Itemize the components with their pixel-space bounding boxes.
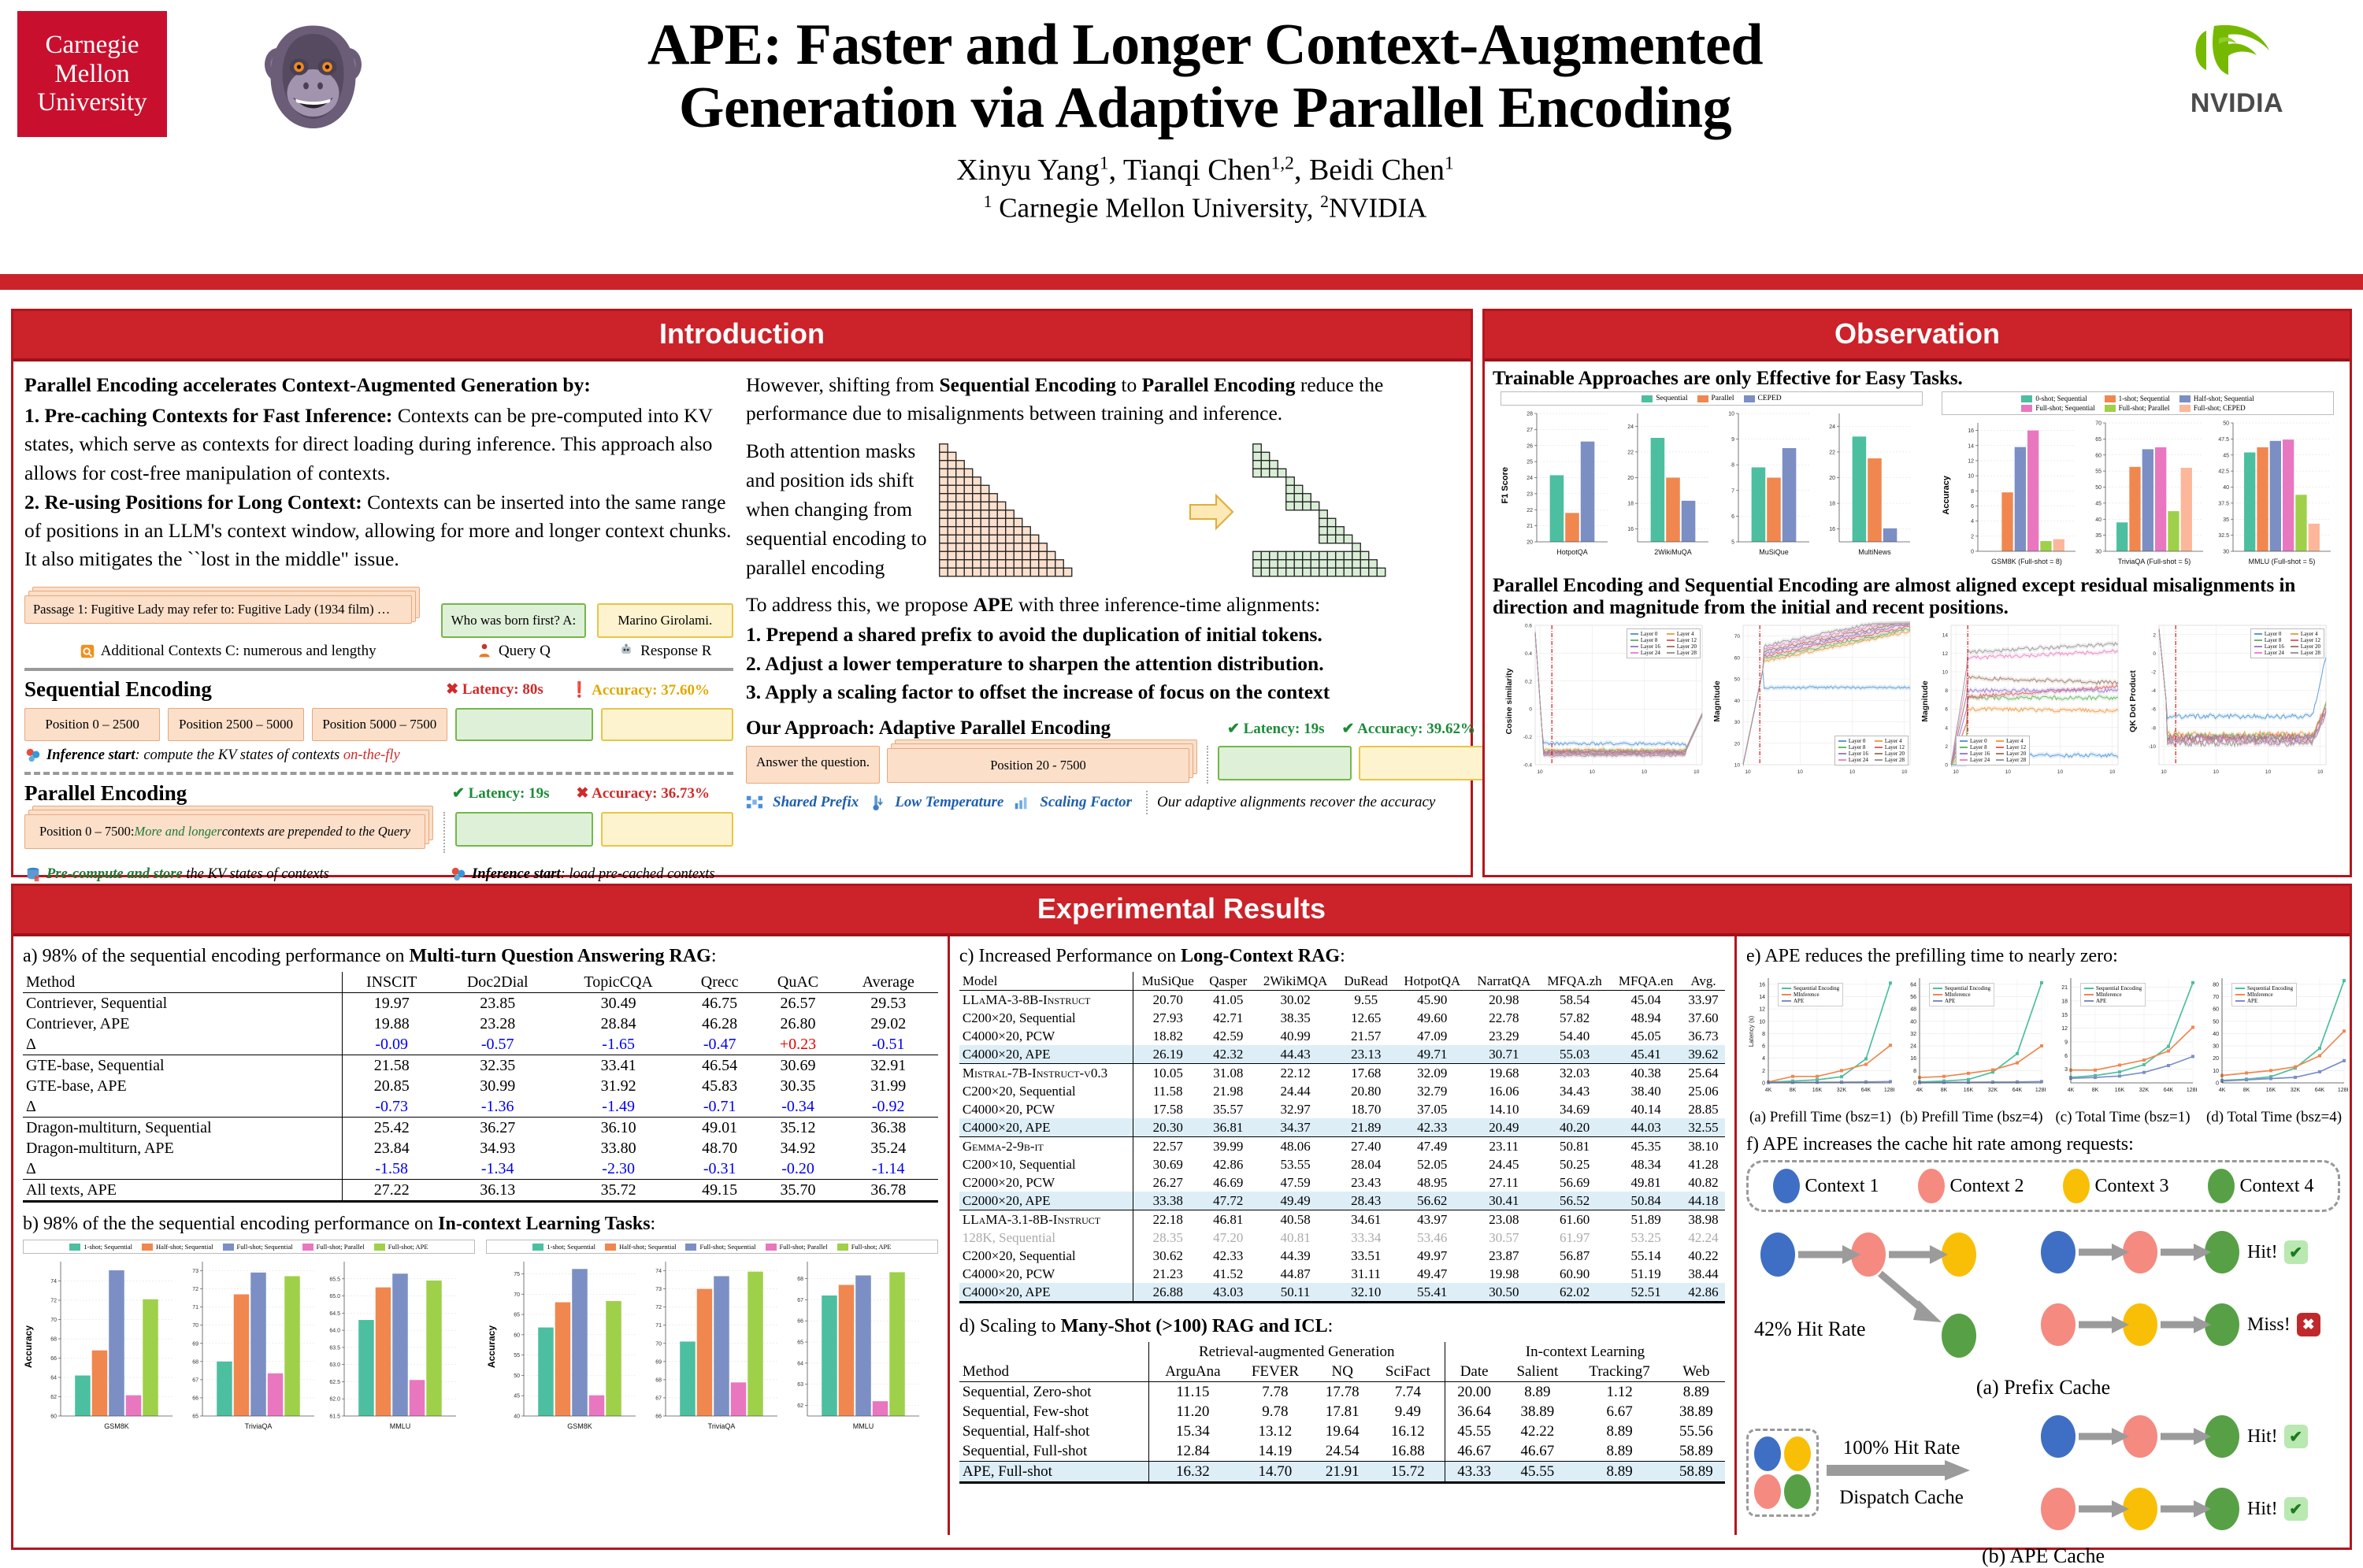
caption-d-post: : [1328,1316,1334,1336]
observation-bar-charts: SequentialParallelCEPEDF1 Score202122232… [1485,391,2350,572]
table-cell: 19.68 [1469,1064,1539,1083]
row-label: APE, Full-shot [959,1462,1148,1483]
time-chart-1: 08162432404856644K8K16K32K64K128KSequent… [1897,972,2046,1126]
svg-text:50: 50 [514,1373,520,1379]
table-cell: 22.18 [1133,1210,1202,1229]
caption-d: d) Scaling to Many-Shot (>100) RAG and I… [959,1316,1725,1337]
bar-chart-panel: 303540455055606570TriviaQA (Full-shot = … [2079,418,2206,572]
table-cell: 50.81 [1539,1137,1611,1156]
table-row: LLaMA-3-8B-Instruct20.7041.0530.029.5545… [959,991,1725,1010]
table-cell: 20.30 [1133,1118,1202,1137]
time-chart-caption: (c) Total Time (bsz=1) [2049,1109,2197,1126]
introduction-heading: Introduction [13,311,1471,361]
ape-hit-rate: 100% Hit Rate [1827,1437,1976,1459]
svg-text:64: 64 [1910,982,1916,988]
legend-item: Layer 0 [2254,631,2284,637]
affiliation-list: 1 Carnegie Mellon University, 2NVIDIA [378,192,2032,224]
svg-text:63.0: 63.0 [329,1362,340,1368]
svg-text:32K: 32K [1837,1088,1847,1093]
svg-text:7: 7 [1731,488,1734,494]
svg-text:0: 0 [1913,1081,1916,1087]
svg-text:32K: 32K [2291,1088,2301,1093]
table-row: GTE-base, APE20.8530.9931.9245.8330.3531… [23,1076,938,1096]
cmu-logo: Carnegie Mellon University [17,11,167,137]
legend-item: Layer 12 [1996,744,2026,751]
svg-text:2: 2 [2153,632,2156,638]
caption-c-bold: Long-Context RAG [1181,946,1340,966]
table-cell: 50.84 [1610,1192,1682,1210]
svg-text:60: 60 [2095,453,2101,458]
table-cell: 58.89 [1667,1441,1725,1462]
row-label: Contriever, APE [23,1014,343,1034]
table-cell: 36.81 [1202,1118,1254,1137]
intro-right-lead-b: Sequential Encoding [939,373,1116,396]
svg-text:73: 73 [655,1287,662,1292]
svg-text:68: 68 [655,1377,662,1383]
svg-text:10: 10 [2057,769,2064,775]
legend-item: APE [2235,998,2293,1004]
table-cell: 46.54 [682,1055,758,1077]
time-chart-3: 010203040506070804K8K16K32K64K128KSequen… [2200,972,2348,1126]
table-cell: 40.82 [1682,1173,1725,1192]
svg-text:20: 20 [1526,540,1533,546]
table-cell: 39.99 [1202,1137,1254,1156]
svg-text:60: 60 [1734,655,1741,661]
table-cell: 32.97 [1254,1100,1336,1118]
table-cell: 19.64 [1314,1422,1371,1441]
table-cell: 33.97 [1682,991,1725,1010]
header-divider [0,274,2363,290]
svg-text:21: 21 [1526,524,1533,529]
svg-text:40: 40 [2213,1032,2219,1037]
table-cell: -0.57 [440,1034,555,1055]
table-cell: 49.60 [1396,1009,1469,1027]
table-row: All texts, APE27.2236.1335.7249.1535.703… [23,1180,938,1202]
table-cell: 38.89 [1667,1402,1725,1422]
table-cell: 25.64 [1682,1064,1725,1083]
table-row: Δ-0.09-0.57-1.65-0.47+0.23-0.51 [23,1034,938,1055]
svg-text:10: 10 [2213,769,2220,775]
table-cell: -1.58 [343,1158,440,1180]
table-cell: 26.80 [757,1014,838,1034]
svg-text:16: 16 [1968,428,1974,434]
svg-text:24: 24 [1627,424,1634,430]
svg-text:16K: 16K [1812,1088,1823,1093]
mask-caption: Both attention masks and position ids sh… [746,437,929,583]
parallel-position-rest: contexts are prepended to the Query [222,824,410,840]
table-cell: 23.08 [1469,1210,1539,1229]
svg-text:62.0: 62.0 [329,1397,340,1403]
column-header: NQ [1314,1362,1371,1382]
bar-chart-panel: 5678910MuSiQue [1712,409,1812,562]
table-cell: 35.24 [839,1138,938,1158]
chart-legend: Sequential EncodingMInferenceAPE [1929,983,1994,1006]
table-cell: 46.67 [1503,1441,1571,1462]
table-cell: 37.05 [1396,1100,1469,1118]
intro-point-2: 2. Re-using Positions for Long Context: … [24,488,733,574]
database-icon [24,866,42,883]
chart-legend: Layer 0Layer 4Layer 8Layer 12Layer 16Lay… [1834,736,1909,765]
ape-cache-caption: (b) APE Cache [1746,1544,2340,1568]
svg-text:16: 16 [1910,1056,1916,1062]
row-label: C4000×20, APE [959,1045,1133,1064]
legend-item: Layer 28 [1996,757,2026,763]
table-header-row: MethodINSCITDoc2DialTopicCQAQreccQuACAve… [23,972,938,993]
row-label: Δ [23,1158,343,1180]
error-icon: ✖ [446,681,458,698]
row-label: C200×10, Sequential [959,1155,1133,1173]
svg-text:80: 80 [2213,982,2219,988]
introduction-right-column: However, shifting from Sequential Encodi… [746,371,1486,883]
query-box: Who was born first? A: [441,603,585,638]
svg-text:32: 32 [1910,1032,1916,1037]
intro-right-lead: However, shifting from Sequential Encodi… [746,371,1486,428]
prefix-cache-diagram: 42% Hit Rate [1746,1221,2340,1371]
intro-point-2-label: 2. Re-using Positions for Long Context: [24,491,362,513]
legend-item: Layer 28 [1875,757,1905,763]
caption-c-pre: c) Increased Performance on [959,946,1181,966]
approach-accuracy-badge: ✔ Accuracy: 39.62% [1342,720,1475,738]
cmu-line-1: Carnegie [45,31,139,60]
table-cell: 32.03 [1539,1064,1611,1083]
table-cell: 53.55 [1254,1155,1336,1173]
table-cell: 35.12 [757,1118,838,1139]
table-cell: 42.86 [1682,1283,1725,1303]
table-cell: -0.34 [757,1096,838,1118]
svg-text:66: 66 [797,1319,803,1325]
svg-text:62: 62 [50,1395,57,1400]
warning-icon: ❗ [570,682,589,699]
table-cell: 24.45 [1469,1155,1539,1173]
svg-text:10: 10 [2265,769,2272,775]
table-long-context-rag: ModelMuSiQueQasper2WikiMQADuReadHotpotQA… [959,972,1725,1303]
cache-legend-item-2: Context 2 [1918,1169,2024,1203]
legend-item: Layer 16 [1630,643,1660,650]
column-header: SciFact [1371,1362,1445,1382]
table-cell: 54.40 [1539,1027,1611,1045]
divider-sequential [24,668,733,671]
svg-text:70: 70 [514,1292,520,1298]
tag-low-temperature: Low Temperature [895,794,1003,811]
table-cell: 32.79 [1396,1082,1469,1100]
table-cell: 12.65 [1337,1009,1396,1027]
svg-text:74: 74 [50,1279,57,1284]
legend-item: Layer 16 [1838,751,1868,757]
svg-text:128K: 128K [2187,1088,2197,1093]
table-cell: 51.89 [1610,1210,1682,1229]
svg-text:70: 70 [50,1318,57,1323]
chart-legend: 1-shot; SequentialHalf-shot; SequentialF… [486,1240,938,1254]
svg-text:68: 68 [192,1359,198,1365]
row-label: C4000×20, APE [959,1283,1133,1303]
table-cell: 55.14 [1610,1247,1682,1265]
table-cell: 30.49 [555,993,681,1014]
svg-text:-0.2: -0.2 [1523,735,1533,740]
svg-text:14: 14 [1942,632,1949,638]
column-header: INSCIT [343,972,440,993]
observation-line-charts: -0.4-0.200.20.40.610101010Cosine similar… [1485,621,2350,786]
time-chart-caption: (d) Total Time (bsz=4) [2200,1109,2348,1126]
table-row: C200×10, Sequential30.6942.8653.5528.045… [959,1155,1725,1173]
svg-text:10: 10 [2213,1069,2219,1074]
caption-b-pre: b) 98% of the the sequential encoding pe… [23,1214,438,1234]
chart-legend: Sequential EncodingMInferenceAPE [1778,983,1843,1006]
svg-text:67: 67 [192,1377,198,1383]
table-cell: 57.82 [1539,1009,1611,1027]
table-cell: 45.05 [1610,1027,1682,1045]
svg-text:10: 10 [1953,769,1959,775]
table-cell: 41.52 [1202,1265,1254,1283]
svg-text:25: 25 [1526,460,1533,465]
svg-text:10: 10 [1901,769,1908,775]
table-cell: 58.54 [1539,991,1611,1010]
svg-text:50: 50 [1734,677,1741,683]
bar-chart-panel: 666768697071727374TriviaQA [639,1257,781,1436]
sequential-latency-badge: ✖ Latency: 80s [446,680,543,699]
svg-text:45: 45 [2095,501,2101,506]
table-cell: 21.89 [1337,1118,1396,1137]
table-cell: 8.89 [1571,1441,1667,1462]
svg-text:66: 66 [192,1396,198,1401]
column-header: DuRead [1337,972,1396,991]
column-header: Avg. [1682,972,1725,991]
column-header: 2WikiMQA [1254,972,1336,991]
table-cell: 10.05 [1133,1064,1202,1083]
bar-chart-icon [1013,794,1030,811]
table-cell: 17.58 [1133,1100,1202,1118]
table-row: Contriever, Sequential19.9723.8530.4946.… [23,993,938,1014]
nvidia-logo: NVIDIA [2142,20,2331,114]
svg-text:12: 12 [1968,458,1974,464]
table-cell: 45.83 [682,1076,758,1096]
table-cell: 51.19 [1610,1265,1682,1283]
svg-text:12: 12 [1942,651,1949,657]
svg-text:64K: 64K [2315,1088,2325,1093]
table-cell: 30.35 [757,1076,838,1096]
legend-item: Layer 12 [1875,744,1905,751]
table-cell: 30.62 [1133,1247,1202,1265]
table-cell: 8.89 [1571,1422,1667,1441]
svg-text:8K: 8K [2092,1088,2099,1093]
legend-item: APE [1933,998,1990,1004]
svg-text:74: 74 [655,1269,662,1274]
table-cell: 47.20 [1202,1229,1254,1247]
row-label: C4000×20, APE [959,1118,1133,1137]
column-header: Method [23,972,343,993]
table-cell: 34.69 [1539,1100,1611,1118]
table-cell: 45.55 [1445,1422,1503,1441]
approach-accuracy-text: Accuracy: 39.62% [1357,721,1475,737]
table-cell: 30.41 [1469,1192,1539,1210]
svg-text:63: 63 [797,1382,803,1388]
svg-text:4K: 4K [1765,1088,1772,1093]
table-cell: -0.31 [682,1158,758,1180]
table-cell: 9.49 [1371,1402,1445,1422]
row-label: C4000×20, PCW [959,1100,1133,1118]
table-cell: 37.60 [1682,1009,1725,1027]
y-axis-label: Latency (s) [1748,1015,1755,1047]
seq-position-box-3: Position 5000 – 7500 [312,708,447,741]
divider-parallel [24,772,733,775]
table-cell: 52.05 [1396,1155,1469,1173]
table-cell: 44.18 [1682,1192,1725,1210]
legend-item: Full-shot; Parallel [766,1243,828,1251]
legend-item: Half-shot; Sequential [2179,395,2254,402]
prefix-seq-row-2: Miss! ✖ [2038,1294,2340,1355]
seq-query-placeholder [455,708,593,741]
table-many-shot: Retrieval-augmented GenerationIn-context… [959,1342,1725,1484]
table-cell: 30.69 [757,1055,838,1077]
chart-legend: 0-shot; Sequential1-shot; SequentialHalf… [1942,391,2334,415]
table-row: Δ-1.58-1.34-2.30-0.31-0.20-1.14 [23,1158,938,1180]
svg-text:63.5: 63.5 [329,1345,340,1351]
svg-text:18: 18 [1627,502,1634,507]
table-cell: 38.10 [1682,1137,1725,1156]
column-header: ArguAna [1148,1362,1237,1382]
table-cell: 53.25 [1610,1229,1682,1247]
approach-title: Our Approach: Adaptive Parallel Encoding [746,717,1227,740]
alignment-1: 1. Prepend a shared prefix to avoid the … [746,621,1486,649]
table-cell: 32.10 [1337,1283,1396,1303]
table-cell: 15.72 [1371,1462,1445,1483]
svg-text:30: 30 [2213,1044,2219,1050]
table-cell: 32.35 [440,1055,555,1077]
svg-text:0: 0 [2216,1081,2219,1087]
table-cell: 16.32 [1148,1462,1237,1483]
svg-text:TriviaQA: TriviaQA [245,1422,273,1430]
svg-text:64.0: 64.0 [329,1329,340,1334]
svg-text:TriviaQA (Full-shot = 5): TriviaQA (Full-shot = 5) [2118,558,2191,565]
table-cell: 26.57 [757,993,838,1014]
table-cell: 36.27 [440,1118,555,1139]
svg-text:75: 75 [514,1272,520,1277]
table-cell: 6.67 [1571,1402,1667,1422]
table-cell: 49.15 [682,1180,758,1202]
table-row: C200×20, Sequential11.5821.9824.4420.803… [959,1082,1725,1100]
sequential-latency-text: Latency: 80s [462,681,543,698]
y-axis-label: Magnitude [1920,680,1930,722]
table-cell: 46.69 [1202,1173,1254,1192]
table-cell: 23.84 [343,1138,440,1158]
svg-text:128K: 128K [1884,1088,1894,1093]
svg-text:10: 10 [2005,769,2012,775]
table-supergroup-row: Retrieval-augmented GenerationIn-context… [959,1342,1725,1362]
table-cell: 36.73 [1682,1027,1725,1045]
y-axis-label: Cosine similarity [1504,668,1514,734]
parallel-latency-text: Latency: 19s [469,785,550,802]
table-cell: 47.49 [1396,1137,1469,1156]
table-cell: 26.88 [1133,1283,1202,1303]
svg-text:24: 24 [1526,476,1533,481]
table-cell: 49.71 [1396,1045,1469,1064]
table-cell: 22.12 [1254,1064,1336,1083]
svg-text:0: 0 [1945,763,1948,769]
intro-right-lead-d: Parallel Encoding [1142,373,1296,396]
table-cell: -1.49 [555,1096,681,1118]
table-cell: 28.85 [1682,1100,1725,1118]
table-cell: -0.92 [839,1096,938,1118]
legend-item: Layer 28 [1667,650,1697,656]
introduction-left-column: Parallel Encoding accelerates Context-Au… [24,371,733,883]
row-label: 128K, Sequential [959,1229,1133,1247]
table-row: 128K, Sequential28.3547.2040.8133.3453.4… [959,1229,1725,1247]
check-badge-icon-2: ✔ [2284,1425,2308,1448]
table-cell: 27.40 [1337,1137,1396,1156]
table-cell: 11.58 [1133,1082,1202,1100]
column-header: Salient [1503,1362,1571,1382]
svg-text:-8: -8 [2151,725,2156,731]
table-cell: 17.81 [1314,1402,1371,1422]
intro-right-lead-c: to [1116,373,1142,396]
parallel-position-prefix: Position 0 – 7500: [39,824,135,840]
table-cell: -0.47 [682,1034,758,1055]
svg-text:70: 70 [2213,995,2219,1000]
svg-text:10: 10 [1693,769,1700,775]
svg-text:60: 60 [50,1414,57,1420]
svg-text:65: 65 [192,1414,198,1420]
exp-column-c-d: c) Increased Performance on Long-Context… [950,936,1737,1535]
parallel-accuracy-text: Accuracy: 36.73% [592,785,710,802]
row-label: C200×20, Sequential [959,1082,1133,1100]
gears-icon [24,747,42,764]
svg-text:55: 55 [2095,469,2101,475]
table-cell: 17.68 [1337,1064,1396,1083]
legend-item: Layer 8 [2254,637,2284,643]
legend-item: Layer 28 [2291,650,2320,656]
table-cell: 23.29 [1469,1027,1539,1045]
table-cell: 7.74 [1371,1382,1445,1403]
column-header: MuSiQue [1133,972,1202,991]
svg-text:3: 3 [2064,1067,2068,1073]
table-row: Contriever, APE19.8823.2828.8446.2826.80… [23,1014,938,1034]
svg-text:16K: 16K [1964,1088,1974,1093]
sequential-note: Inference start: compute the KV states o… [46,747,400,764]
legend-item: Half-shot; Sequential [605,1243,676,1251]
legend-item: Layer 20 [2291,643,2320,650]
table-cell: 46.81 [1202,1210,1254,1229]
svg-text:4K: 4K [2068,1088,2075,1093]
column-header: MFQA.en [1610,972,1682,991]
time-chart-2: 369121518214K8K16K32K64K128KSequential E… [2049,972,2197,1126]
svg-text:66: 66 [50,1356,57,1362]
experimental-results-heading: Experimental Results [13,886,2350,936]
svg-text:71: 71 [192,1305,198,1310]
table-cell: 21.98 [1202,1082,1254,1100]
ape-seq-row-1: Hit! ✔ [2038,1406,2340,1467]
svg-text:14: 14 [1968,443,1974,449]
table-cell: 43.97 [1396,1210,1469,1229]
table-cell: 44.39 [1254,1247,1336,1265]
table-cell: 21.58 [343,1055,440,1077]
legend-item: Sequential Encoding [2084,985,2142,992]
table-cell: 42.71 [1202,1009,1254,1027]
sequential-accuracy-badge: ❗ Accuracy: 37.60% [570,680,710,699]
legend-item: 1-shot; Sequential [69,1243,132,1251]
time-chart-0: 02468101214164K8K16K32K64K128KLatency (s… [1746,972,1894,1126]
table-cell: 27.22 [343,1180,440,1202]
table-cell: 20.98 [1469,991,1539,1010]
table-cell: -2.30 [555,1158,681,1180]
table-row: C200×20, Sequential30.6242.3344.3933.514… [959,1247,1725,1265]
table-cell: 9.55 [1337,991,1396,1010]
svg-text:70: 70 [1734,634,1741,639]
bar-chart-panel: 62636465666768MMLU [781,1257,922,1436]
svg-text:70: 70 [655,1341,662,1347]
legend-item: Layer 0 [1838,738,1868,744]
row-label: C4000×20, PCW [959,1265,1133,1283]
svg-text:10: 10 [1942,670,1949,676]
table-cell: 45.55 [1503,1462,1571,1483]
